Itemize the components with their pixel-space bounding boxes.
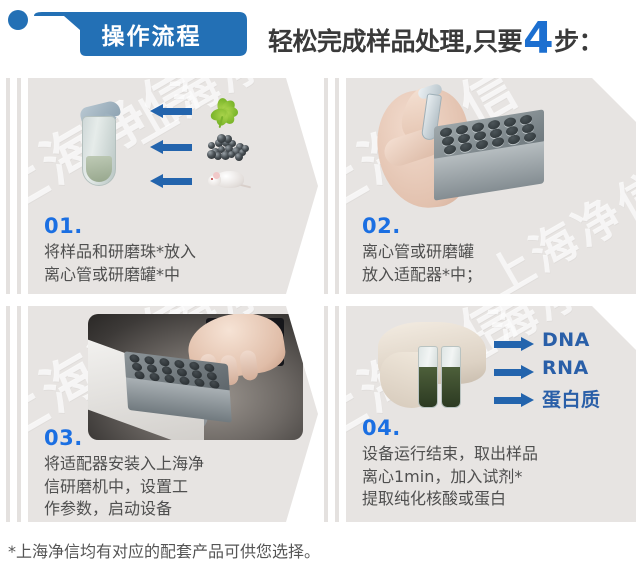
well-hole: [508, 134, 520, 145]
arrow-right-icon: [494, 365, 534, 379]
sample-vial-icon: [418, 346, 438, 408]
leaf-sample-icon: [204, 94, 250, 128]
decorative-dot: [8, 10, 28, 30]
output-label: 蛋白质: [542, 385, 601, 412]
stripe: [6, 78, 10, 294]
step-text-line: 作参数，启动设备: [44, 498, 204, 521]
sample-vial-icon: [441, 346, 461, 408]
page-header: 操作流程 轻松完成样品处理,只要 4 步：: [0, 0, 636, 72]
step-panel-1: 上海净信 上海净信: [0, 72, 318, 300]
steps-grid: 上海净信 上海净信: [0, 72, 636, 530]
step-2-caption: 02. 离心管或研磨罐 放入适配器*中；: [362, 216, 482, 286]
headline-step-count: 4: [523, 17, 553, 61]
stripe: [17, 78, 21, 294]
step-3-illustration: [88, 314, 303, 440]
step-number: 03.: [44, 428, 204, 449]
panel-body: 上海净信 上海净信 DNA RNA: [346, 306, 636, 522]
output-row-rna: RNA: [494, 358, 624, 384]
stripe: [17, 306, 21, 522]
well-hole: [492, 137, 504, 148]
arrow-left-icon: [150, 140, 192, 154]
step-number: 02.: [362, 216, 482, 237]
headline: 轻松完成样品处理,只要 4 步：: [268, 14, 603, 58]
input-row-mouse: [150, 168, 280, 194]
input-row-beads: [150, 134, 280, 160]
arrow-left-icon: [150, 174, 192, 188]
step-text-line: 提取纯化核酸或蛋白: [362, 488, 538, 511]
step-3-caption: 03. 将适配器安装入上海净 信研磨机中，设置工 作参数，启动设备: [44, 428, 204, 521]
arrow-right-icon: [494, 337, 534, 351]
step-text-line: 将适配器安装入上海净: [44, 453, 204, 476]
step-number: 01.: [44, 216, 196, 237]
step-1-illustration: [54, 90, 284, 210]
footer-note: *上海净信均有对应的配套产品可供您选择。: [8, 538, 628, 566]
output-row-protein: 蛋白质: [494, 386, 624, 412]
step-panel-4: 上海净信 上海净信 DNA RNA: [318, 300, 636, 528]
output-label: RNA: [542, 357, 589, 379]
step-text-line: 放入适配器*中；: [362, 264, 482, 287]
stripe: [324, 306, 328, 522]
headline-suffix: 步：: [554, 22, 603, 58]
centrifuge-tube-icon: [82, 104, 116, 200]
step-panel-3: 上海净信 上海净信 03. 将适配器安: [0, 300, 318, 528]
step-panel-2: 上海净信 上海净信 02. 离心管或研磨罐 放入适配器*中；: [318, 72, 636, 300]
headline-prefix: 轻松完成样品处理,只要: [268, 22, 522, 58]
stripe: [335, 306, 339, 522]
panel-body: 上海净信 上海净信 03. 将适配器安: [28, 306, 318, 522]
well-hole: [476, 139, 488, 150]
well-hole: [460, 142, 472, 153]
panel-stripes: [0, 306, 28, 522]
mouse-sample-icon: [204, 164, 250, 198]
step-4-illustration: [378, 318, 498, 424]
step-text-line: 离心管或研磨罐*中: [44, 264, 196, 287]
output-row-dna: DNA: [494, 330, 624, 356]
step-text-line: 设备运行结束，取出样品: [362, 443, 538, 466]
step-text-line: 离心管或研磨罐: [362, 241, 482, 264]
output-label: DNA: [542, 329, 590, 351]
step-2-illustration: [368, 84, 604, 214]
step-1-caption: 01. 将样品和研磨珠*放入 离心管或研磨罐*中: [44, 216, 196, 286]
step-number: 04.: [362, 418, 538, 439]
panel-stripes: [318, 306, 346, 522]
well-hole: [444, 144, 456, 155]
step-4-caption: 04. 设备运行结束，取出样品 离心1min，加入试剂* 提取纯化核酸或蛋白: [362, 418, 538, 511]
arrow-right-icon: [494, 393, 534, 407]
grinding-beads-icon: [204, 130, 250, 164]
stripe: [324, 78, 328, 294]
step-text-line: 离心1min，加入试剂*: [362, 466, 538, 489]
arrow-left-icon: [150, 104, 192, 118]
panel-body: 上海净信 上海净信: [28, 78, 318, 294]
input-row-leaf: [150, 98, 280, 124]
section-title: 操作流程: [34, 12, 247, 56]
step-text-line: 将样品和研磨珠*放入: [44, 241, 196, 264]
adapter-block-icon: [434, 109, 544, 200]
panel-body: 上海净信 上海净信 02. 离心管或研磨罐 放入适配器*中；: [346, 78, 636, 294]
panel-stripes: [318, 78, 346, 294]
well-hole: [524, 132, 536, 143]
panel-stripes: [0, 78, 28, 294]
stripe: [6, 306, 10, 522]
stripe: [335, 78, 339, 294]
step-text-line: 信研磨机中，设置工: [44, 476, 204, 499]
